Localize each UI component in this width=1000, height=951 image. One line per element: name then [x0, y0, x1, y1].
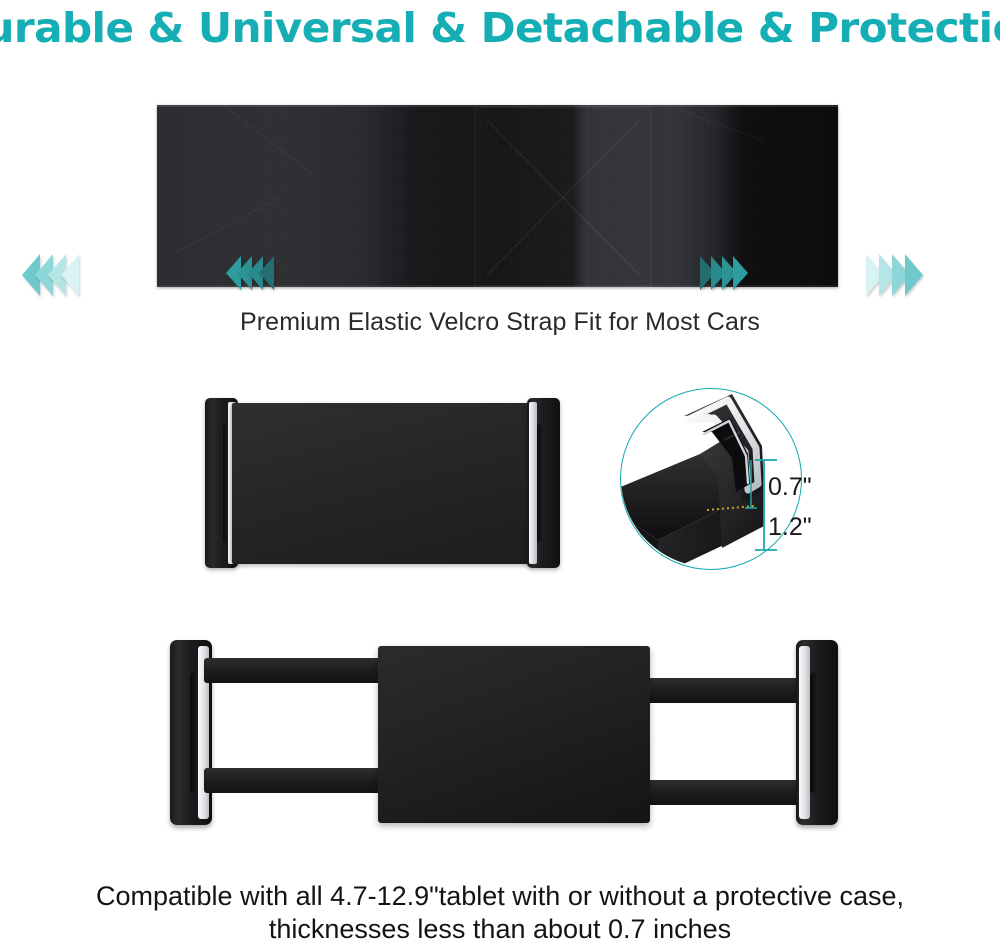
strap-caption: Premium Elastic Velcro Strap Fit for Mos… [0, 308, 1000, 337]
clamp-back-plate [232, 403, 533, 564]
callout-clamp-3d [594, 394, 764, 576]
center-mount-block [378, 646, 650, 823]
clamp-arm-slot [223, 424, 228, 542]
extended-holder-section [0, 630, 1000, 850]
strap-center-x-stitch-patch [474, 107, 652, 287]
chevron-left-4 [61, 254, 79, 296]
clamp-arm-silver-strip [529, 402, 537, 564]
header-banner: Durable & Universal & Detachable & Prote… [0, 0, 1000, 56]
clamp-arm-silver-strip [799, 646, 810, 819]
compatibility-caption: Compatible with all 4.7-12.9"tablet with… [0, 880, 1000, 946]
clamp-section: 0.7" 1.2" [0, 380, 1000, 605]
chevron-group-outer-left [22, 254, 74, 296]
extended-clamp-arm-right [796, 640, 838, 825]
clamp-arm-right [527, 398, 560, 568]
dimension-label-0-7: 0.7" [768, 473, 812, 502]
chevron-left-4 [259, 256, 274, 290]
extended-holder-image [170, 640, 838, 825]
dimension-label-1-2: 1.2" [768, 513, 812, 542]
page-title: Durable & Universal & Detachable & Prote… [0, 8, 1000, 49]
thickness-detail-callout: 0.7" 1.2" [620, 380, 808, 600]
compatibility-caption-line-1: Compatible with all 4.7-12.9"tablet with… [0, 880, 1000, 913]
collapsed-clamp-image [205, 398, 560, 568]
chevron-group-strap-left [226, 256, 270, 290]
chevron-group-outer-right [866, 254, 918, 296]
infographic-page: Durable & Universal & Detachable & Prote… [0, 0, 1000, 951]
clamp-arm-slot [190, 672, 198, 793]
chevron-right-4 [905, 254, 923, 296]
strap-section: Premium Elastic Velcro Strap Fit for Mos… [0, 86, 1000, 346]
clamp-arm-slot [537, 424, 542, 542]
chevron-right-4 [733, 256, 748, 290]
compatibility-caption-line-2: thicknesses less than about 0.7 inches [0, 913, 1000, 946]
clamp-arm-slot [810, 672, 818, 793]
chevron-group-strap-right [700, 256, 744, 290]
